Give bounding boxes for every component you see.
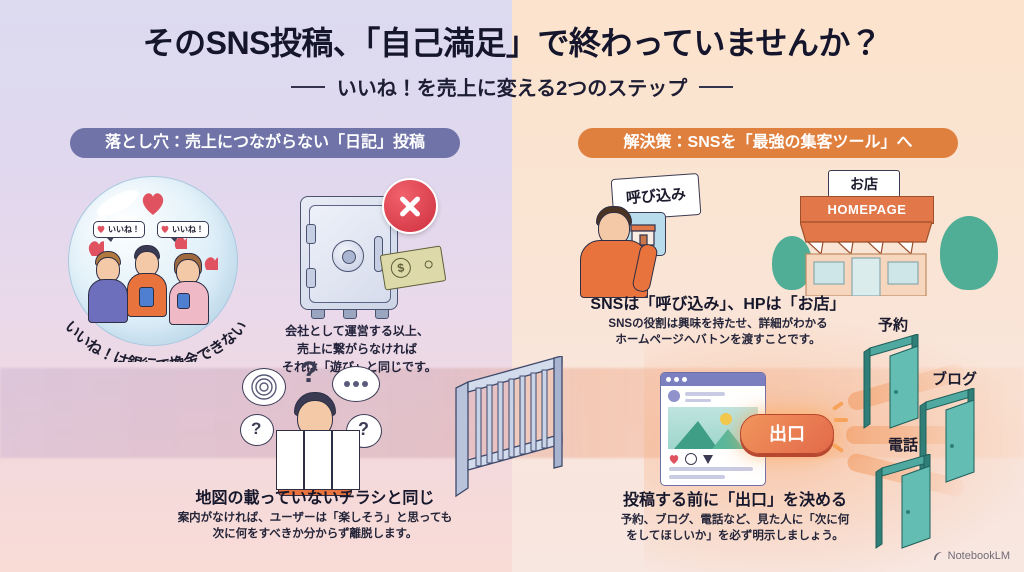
post-avatar-icon bbox=[668, 390, 680, 402]
post-text-line1 bbox=[669, 467, 753, 471]
safe-hinge-top-icon bbox=[306, 224, 316, 244]
safe-caption-line1: 会社として運営する以上、 bbox=[282, 322, 432, 340]
watermark: NotebookLM bbox=[932, 550, 1010, 562]
post-window-bar bbox=[661, 373, 765, 386]
safe-door bbox=[309, 205, 391, 303]
share-icon bbox=[703, 455, 713, 464]
heart-icon bbox=[141, 191, 167, 217]
outro-line2: をしてほしいか」を必ず明示しましょう。 bbox=[590, 528, 880, 545]
fence-divider-illustration bbox=[452, 356, 572, 516]
post-meta-line bbox=[685, 399, 711, 402]
notebooklm-logo-icon bbox=[932, 550, 944, 562]
shop-sign: お店 bbox=[828, 170, 900, 198]
infographic-poster: そのSNS投稿、「自己満足」で終わっていませんか？ いいね！を売上に変える2つの… bbox=[0, 0, 1024, 572]
flyer-caption-heading: 地図の載っていないチラシと同じ bbox=[135, 488, 495, 510]
door-label-reservation: 予約 bbox=[878, 314, 908, 335]
heart-icon bbox=[203, 255, 218, 270]
page-subtitle: いいね！を売上に変える2つのステップ bbox=[0, 72, 1024, 101]
safe-foot bbox=[311, 309, 325, 319]
heart-icon bbox=[669, 454, 679, 464]
safe-foot bbox=[375, 309, 389, 319]
question-mark-large-icon: ? bbox=[300, 356, 318, 390]
sns-hp-line2: ホームページへバトンを渡すことです。 bbox=[568, 332, 868, 349]
section-badge-solution: 解決策：SNSを「最強の集客ツール」へ bbox=[578, 128, 958, 158]
post-text-line2 bbox=[669, 475, 725, 479]
flyer-caption-line1: 案内がなければ、ユーザーは「楽しそう」と思っても bbox=[135, 510, 495, 527]
door-label-phone: 電話 bbox=[888, 434, 918, 455]
outro-line1: 予約、ブログ、電話など、見た人に「次に何 bbox=[590, 512, 880, 529]
outro-heading: 投稿する前に「出口」を決める bbox=[590, 490, 880, 512]
heart-icon bbox=[161, 225, 169, 233]
subtitle-dash-left bbox=[291, 86, 325, 88]
sparkle-icon bbox=[834, 418, 848, 422]
watermark-label: NotebookLM bbox=[948, 550, 1010, 562]
sns-hp-caption: SNSは「呼び込み」、HPは「お店」 SNSの役割は興味を持たせ、詳細がわかる … bbox=[568, 294, 868, 349]
comment-icon bbox=[685, 453, 697, 465]
like-callout-left: いいね！ bbox=[93, 221, 145, 238]
safe-dial-icon bbox=[332, 240, 364, 272]
thought-bubble-dots-icon bbox=[332, 366, 380, 402]
heart-icon bbox=[97, 225, 105, 233]
x-mark-icon bbox=[382, 178, 438, 234]
page-title: そのSNS投稿、「自己満足」で終わっていませんか？ bbox=[0, 18, 1024, 64]
flyer-caption: 地図の載っていないチラシと同じ 案内がなければ、ユーザーは「楽しそう」と思っても… bbox=[135, 488, 495, 543]
post-action-icons bbox=[669, 453, 713, 465]
post-username-line bbox=[685, 392, 725, 396]
subtitle-text: いいね！を売上に変える2つのステップ bbox=[337, 78, 688, 100]
question-mark-icon: ? bbox=[251, 419, 261, 439]
bubble-arc-caption: いいね！は銀行で換金できない bbox=[40, 292, 270, 362]
flyer-caption-line2: 次に何をすべきか分からず離脱します。 bbox=[135, 526, 495, 543]
svg-text:いいね！は銀行で換金できない: いいね！は銀行で換金できない bbox=[61, 318, 251, 362]
sns-hp-heading: SNSは「呼び込み」、HPは「お店」 bbox=[568, 294, 868, 316]
like-callout-right: いいね！ bbox=[157, 221, 209, 238]
door-phone bbox=[872, 454, 950, 550]
section-badge-problem: 落とし穴：売上につながらない「日記」投稿 bbox=[70, 128, 460, 158]
shop-building bbox=[800, 196, 932, 296]
arc-caption-text: いいね！は銀行で換金できない bbox=[61, 318, 251, 362]
thought-bubble-scribble-icon bbox=[242, 368, 286, 406]
flyer-icon bbox=[276, 430, 360, 490]
door-label-blog: ブログ bbox=[932, 368, 977, 389]
sns-hp-line1: SNSの役割は興味を持たせ、詳細がわかる bbox=[568, 316, 868, 333]
safe-hinge-bottom-icon bbox=[306, 268, 316, 288]
subtitle-dash-right bbox=[699, 86, 733, 88]
tree-icon bbox=[940, 216, 998, 290]
safe-foot bbox=[343, 309, 357, 319]
exit-button[interactable]: 出口 bbox=[740, 414, 834, 454]
outro-caption: 投稿する前に「出口」を決める 予約、ブログ、電話など、見た人に「次に何 をしてほ… bbox=[590, 490, 880, 545]
